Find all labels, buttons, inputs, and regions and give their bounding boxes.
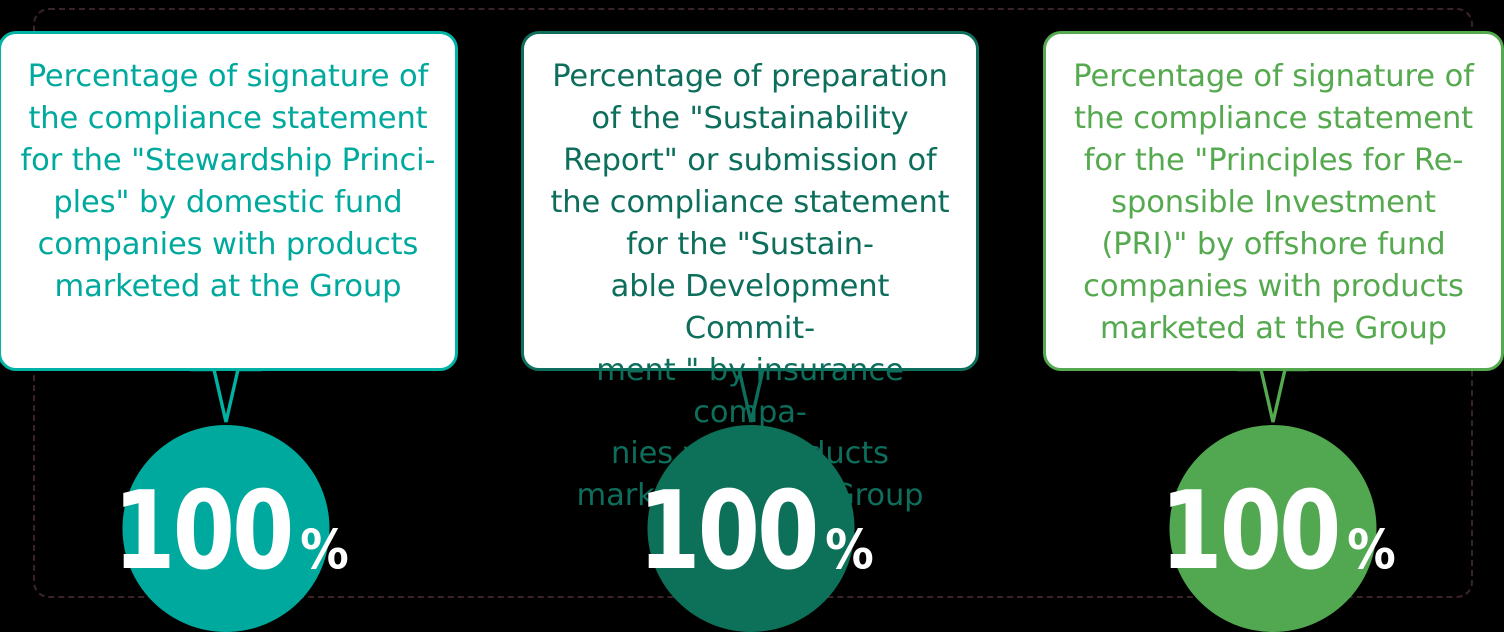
- metric-column-principles-for-responsible-investment: Percentage of signature of the complianc…: [1043, 0, 1503, 632]
- badge-number: 100: [638, 488, 816, 577]
- metric-column-sustainable-development-commitment: Percentage of preparation of the "Sustai…: [521, 0, 981, 632]
- percentage-badge: 100 %: [648, 425, 855, 632]
- badge-number: 100: [1160, 488, 1338, 577]
- infographic-root: Percentage of signature of the complianc…: [0, 0, 1504, 632]
- badge-value-group: 100 %: [105, 488, 347, 577]
- percentage-badge: 100 %: [123, 425, 330, 632]
- badge-circle: 100 %: [123, 425, 330, 632]
- badge-circle: 100 %: [648, 425, 855, 632]
- badge-value-group: 100 %: [1152, 488, 1394, 577]
- badge-percent-sign: %: [1347, 523, 1394, 577]
- callout-card: Percentage of signature of the complianc…: [1043, 31, 1504, 371]
- badge-circle: 100 %: [1170, 425, 1377, 632]
- callout-tail-icon: [1237, 368, 1309, 426]
- callout-description: Percentage of signature of the complianc…: [1064, 56, 1483, 350]
- callout-description: Percentage of signature of the complianc…: [19, 56, 437, 308]
- callout-card: Percentage of preparation of the "Sustai…: [521, 31, 979, 371]
- badge-percent-sign: %: [300, 523, 347, 577]
- badge-percent-sign: %: [825, 523, 872, 577]
- callout-tail-icon: [190, 368, 262, 426]
- metric-column-stewardship-principles: Percentage of signature of the complianc…: [0, 0, 458, 632]
- percentage-badge: 100 %: [1170, 425, 1377, 632]
- badge-value-group: 100 %: [630, 488, 872, 577]
- badge-number: 100: [113, 488, 291, 577]
- callout-card: Percentage of signature of the complianc…: [0, 31, 458, 371]
